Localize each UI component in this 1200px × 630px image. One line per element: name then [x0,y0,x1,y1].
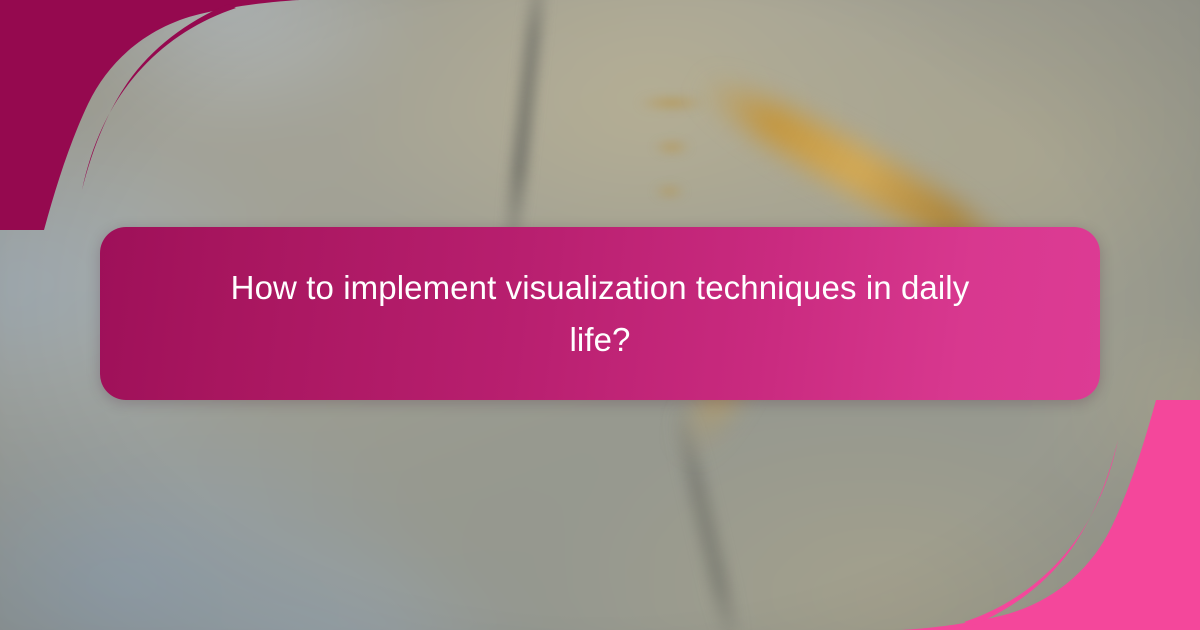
headline-title: How to implement visualization technique… [205,262,995,366]
share-card-canvas: How to implement visualization technique… [0,0,1200,630]
headline-card[interactable]: How to implement visualization technique… [100,227,1100,400]
